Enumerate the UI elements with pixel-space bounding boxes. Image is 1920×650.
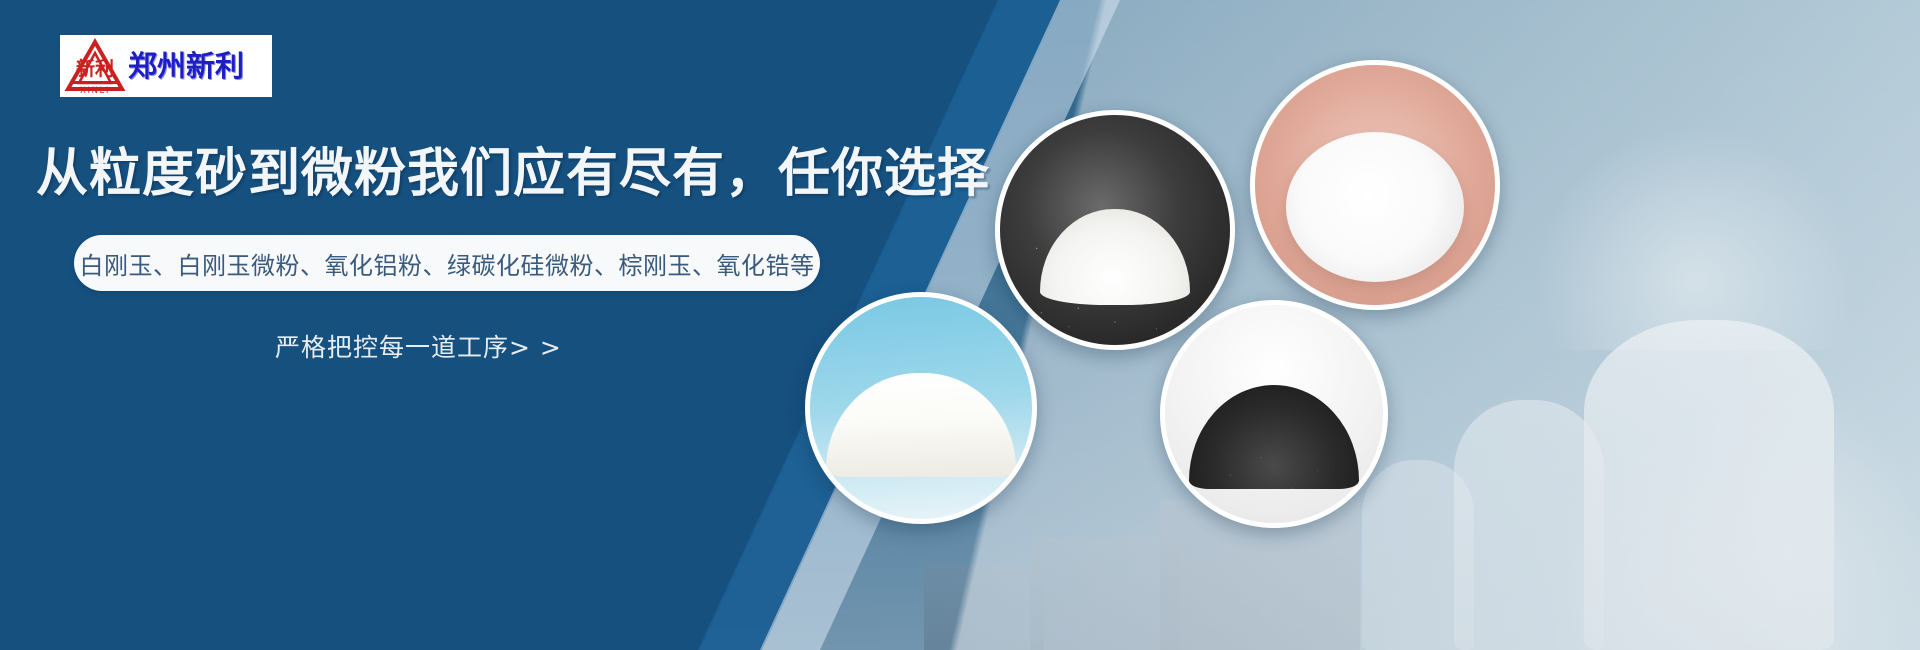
- product-list-text: 白刚玉、白刚玉微粉、氧化铝粉、绿碳化硅微粉、棕刚玉、氧化锆等: [80, 246, 815, 281]
- page-title: 从粒度砂到微粉我们应有尽有，任你选择: [36, 148, 990, 200]
- logo-company-name: 郑州新利: [128, 52, 244, 81]
- promo-banner: 新利 XINLI 郑州新利 从粒度砂到微粉我们应有尽有，任你选择 白刚玉、白刚玉…: [0, 0, 1920, 650]
- svg-text:新利: 新利: [76, 57, 114, 80]
- granule-specks: [1165, 305, 1383, 523]
- svg-text:XINLI: XINLI: [80, 86, 110, 95]
- cta-link[interactable]: 严格把控每一道工序> >: [275, 328, 562, 364]
- powder-mound: [826, 373, 1016, 477]
- company-logo[interactable]: 新利 XINLI 郑州新利: [60, 35, 272, 97]
- product-photo-white-powder-on-pink-tray[interactable]: [1250, 60, 1500, 310]
- powder-mound: [1286, 132, 1464, 282]
- product-list-pill: 白刚玉、白刚玉微粉、氧化铝粉、绿碳化硅微粉、棕刚玉、氧化锆等: [74, 235, 820, 291]
- product-photo-black-granules-mound[interactable]: [1160, 300, 1388, 528]
- xinli-triangle-icon: 新利 XINLI: [64, 37, 126, 95]
- product-photo-white-powder-mound-blue[interactable]: [805, 292, 1037, 524]
